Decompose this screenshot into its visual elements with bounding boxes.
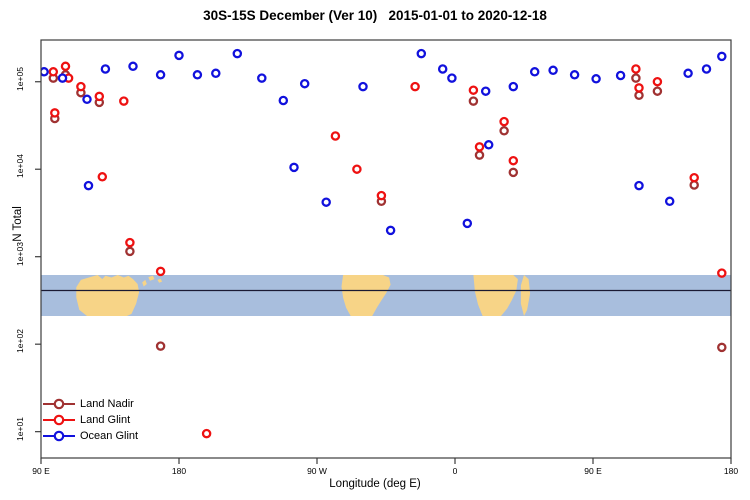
- legend-item-ocean-glint[interactable]: Ocean Glint: [42, 428, 192, 444]
- data-point: [203, 430, 210, 437]
- data-point: [510, 169, 517, 176]
- data-point: [439, 65, 446, 72]
- map-overlay-band: [41, 275, 731, 316]
- data-point: [234, 50, 241, 57]
- data-point: [470, 98, 477, 105]
- legend-swatch-ocean-glint: [42, 428, 76, 444]
- scatter-plot-figure: 30S-15S December (Ver 10) 2015-01-01 to …: [0, 0, 750, 500]
- data-point: [258, 75, 265, 82]
- data-point: [654, 88, 661, 95]
- data-point: [99, 173, 106, 180]
- data-points-group: [41, 50, 726, 437]
- data-point: [501, 118, 508, 125]
- data-point: [718, 270, 725, 277]
- data-point: [323, 199, 330, 206]
- data-point: [501, 127, 508, 134]
- y-tick-label: 1e+02: [0, 336, 32, 346]
- data-point: [632, 75, 639, 82]
- data-point: [280, 97, 287, 104]
- data-point: [632, 65, 639, 72]
- x-tick-label: 180: [149, 466, 209, 476]
- data-point: [290, 164, 297, 171]
- data-point: [301, 80, 308, 87]
- data-point: [51, 109, 58, 116]
- data-point: [77, 83, 84, 90]
- data-point: [175, 52, 182, 59]
- x-tick-label: 90 E: [563, 466, 623, 476]
- data-point: [635, 84, 642, 91]
- data-point: [102, 65, 109, 72]
- map-land-region: [76, 275, 139, 316]
- data-point: [359, 83, 366, 90]
- data-point: [126, 239, 133, 246]
- legend-swatch-land-glint: [42, 412, 76, 428]
- data-point: [59, 75, 66, 82]
- data-point: [332, 132, 339, 139]
- data-point: [531, 68, 538, 75]
- data-point: [485, 141, 492, 148]
- series-land-glint: [50, 63, 726, 438]
- data-point: [666, 198, 673, 205]
- legend: Land Nadir Land Glint Ocean Glint: [42, 396, 192, 444]
- y-tick-label: 1e+05: [0, 74, 32, 84]
- data-point: [194, 71, 201, 78]
- data-point: [50, 68, 57, 75]
- data-point: [691, 181, 698, 188]
- series-ocean-glint: [41, 50, 726, 234]
- data-point: [353, 166, 360, 173]
- data-point: [617, 72, 624, 79]
- legend-label-land-glint: Land Glint: [80, 412, 130, 428]
- data-point: [510, 83, 517, 90]
- data-point: [129, 63, 136, 70]
- x-tick-label: 0: [425, 466, 485, 476]
- data-point: [83, 96, 90, 103]
- data-point: [691, 174, 698, 181]
- data-point: [703, 65, 710, 72]
- data-point: [685, 70, 692, 77]
- legend-swatch-land-nadir: [42, 396, 76, 412]
- data-point: [157, 268, 164, 275]
- data-point: [571, 71, 578, 78]
- data-point: [476, 143, 483, 150]
- data-point: [120, 98, 127, 105]
- data-point: [482, 88, 489, 95]
- y-tick-label: 1e+04: [0, 161, 32, 171]
- data-point: [157, 71, 164, 78]
- data-point: [85, 182, 92, 189]
- legend-item-land-nadir[interactable]: Land Nadir: [42, 396, 192, 412]
- x-tick-label: 90 E: [11, 466, 71, 476]
- data-point: [476, 152, 483, 159]
- data-point: [510, 157, 517, 164]
- legend-label-land-nadir: Land Nadir: [80, 396, 134, 412]
- data-point: [635, 182, 642, 189]
- data-point: [126, 248, 133, 255]
- data-point: [718, 53, 725, 60]
- y-tick-label: 1e+01: [0, 424, 32, 434]
- y-tick-label: 1e+03: [0, 249, 32, 259]
- x-tick-label: 180: [701, 466, 750, 476]
- legend-label-ocean-glint: Ocean Glint: [80, 428, 138, 444]
- data-point: [212, 70, 219, 77]
- data-point: [593, 75, 600, 82]
- data-point: [387, 227, 394, 234]
- data-point: [412, 83, 419, 90]
- data-point: [464, 220, 471, 227]
- data-point: [448, 75, 455, 82]
- data-point: [635, 92, 642, 99]
- data-point: [157, 343, 164, 350]
- data-point: [378, 192, 385, 199]
- data-point: [418, 50, 425, 57]
- data-point: [718, 344, 725, 351]
- data-point: [96, 93, 103, 100]
- legend-item-land-glint[interactable]: Land Glint: [42, 412, 192, 428]
- data-point: [550, 67, 557, 74]
- data-point: [470, 87, 477, 94]
- x-tick-label: 90 W: [287, 466, 347, 476]
- data-point: [654, 78, 661, 85]
- data-point: [62, 63, 69, 70]
